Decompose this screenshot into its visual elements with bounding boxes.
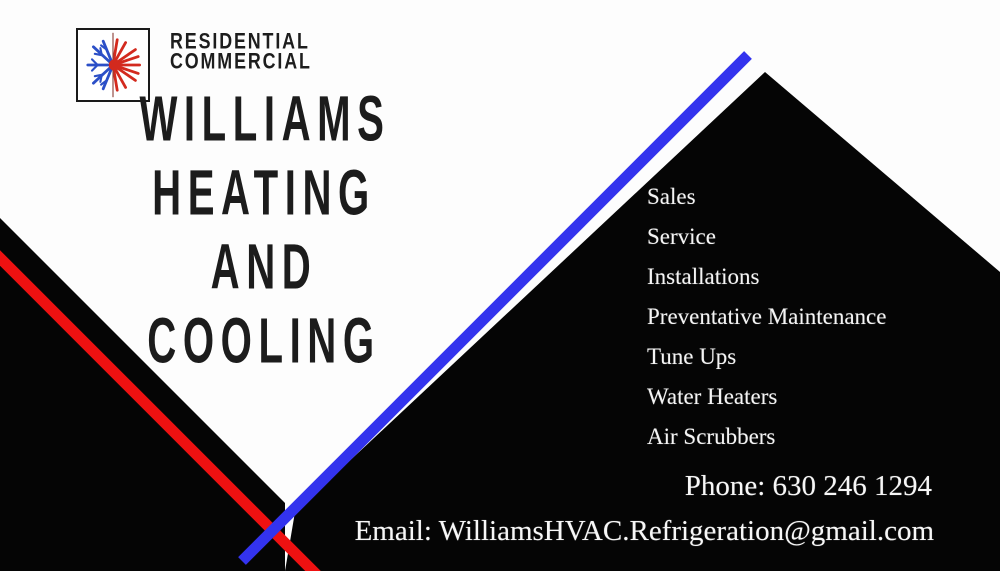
company-name-line-cooling: COOLING [54,311,474,375]
company-name-block: WILLIAMS HEATING AND COOLING [0,96,520,367]
company-name-line-heating: HEATING [54,163,474,227]
contact-block: Phone: 630 246 1294 Email: WilliamsHVAC.… [0,472,1000,546]
service-item-water-heaters: Water Heaters [647,385,987,408]
service-item-sales: Sales [647,185,987,208]
service-item-air-scrubbers: Air Scrubbers [647,425,987,448]
business-card-flyer: RESIDENTIAL COMMERCIAL WILLIAMS HEATING … [0,0,1000,571]
company-name-line-williams: WILLIAMS [56,89,474,153]
contact-email[interactable]: Email: WilliamsHVAC.Refrigeration@gmail.… [0,517,1000,546]
services-list: Sales Service Installations Preventative… [647,185,987,465]
service-item-preventative-maintenance: Preventative Maintenance [647,305,987,328]
tagline-block: RESIDENTIAL COMMERCIAL [170,31,321,71]
company-name-line-and: AND [54,237,474,301]
service-item-installations: Installations [647,265,987,288]
contact-phone[interactable]: Phone: 630 246 1294 [0,472,1000,501]
tagline-commercial: COMMERCIAL [170,51,312,75]
service-item-tune-ups: Tune Ups [647,345,987,368]
service-item-service: Service [647,225,987,248]
